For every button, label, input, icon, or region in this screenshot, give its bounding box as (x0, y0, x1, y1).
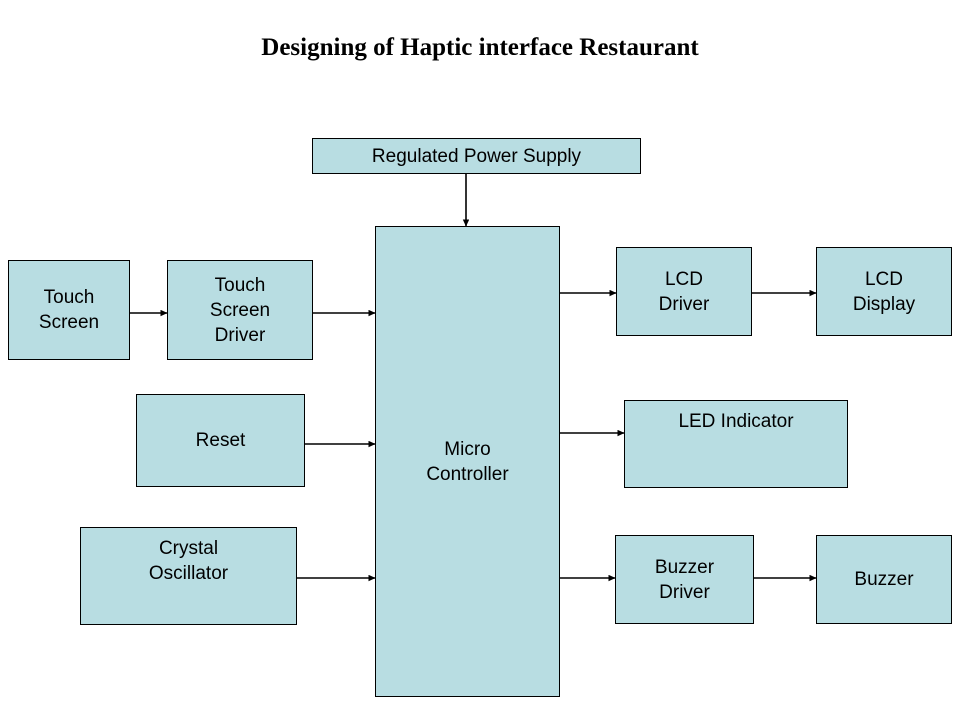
block-crystal-oscillator[interactable]: Crystal Oscillator (80, 527, 297, 625)
block-label: Buzzer Driver (655, 555, 714, 605)
block-label: Micro Controller (426, 437, 508, 487)
block-label: LCD Display (853, 267, 915, 317)
block-buzzer-driver[interactable]: Buzzer Driver (615, 535, 754, 624)
block-lcd-driver[interactable]: LCD Driver (616, 247, 752, 336)
block-touch-screen[interactable]: Touch Screen (8, 260, 130, 360)
block-label: Buzzer (854, 567, 913, 592)
block-label: Reset (196, 428, 246, 453)
block-regulated-power-supply[interactable]: Regulated Power Supply (312, 138, 641, 174)
block-label: LCD Driver (659, 267, 710, 317)
block-led-indicator[interactable]: LED Indicator (624, 400, 848, 488)
block-label: LED Indicator (678, 409, 793, 434)
block-touch-screen-driver[interactable]: Touch Screen Driver (167, 260, 313, 360)
block-label: Touch Screen Driver (210, 273, 270, 348)
block-micro-controller[interactable]: Micro Controller (375, 226, 560, 697)
block-label: Touch Screen (39, 285, 99, 335)
block-reset[interactable]: Reset (136, 394, 305, 487)
block-diagram-canvas: Designing of Haptic interface Restaurant… (0, 0, 960, 720)
page-title: Designing of Haptic interface Restaurant (0, 34, 960, 62)
block-buzzer[interactable]: Buzzer (816, 535, 952, 624)
block-label: Crystal Oscillator (149, 536, 228, 586)
block-lcd-display[interactable]: LCD Display (816, 247, 952, 336)
block-label: Regulated Power Supply (372, 144, 581, 169)
